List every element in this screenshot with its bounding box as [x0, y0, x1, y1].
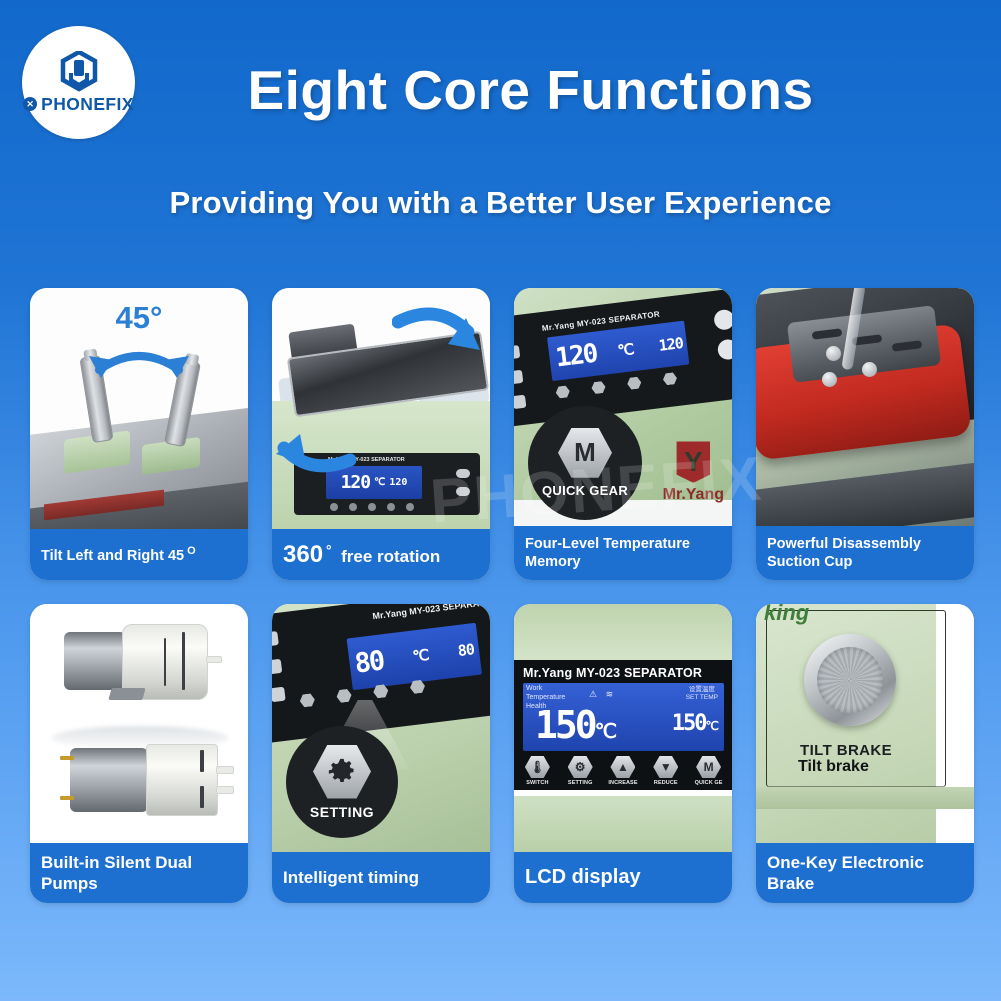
control-panel: Mr.Yang MY-023 SEPARATOR Work Temperatur… — [514, 660, 732, 790]
page-subtitle: Providing You with a Better User Experie… — [0, 185, 1001, 221]
panel-button-increase[interactable]: ▲ INCREASE — [602, 756, 645, 786]
rotation-arrow-top-icon — [392, 306, 484, 371]
button-caption: INCREASE — [602, 780, 645, 786]
lcd-status-icons: ⚠ ≋ — [589, 689, 616, 700]
card-label-suction-cup: Powerful Disassembly Suction Cup — [756, 526, 974, 580]
arrow-up-icon: ▲ — [610, 756, 635, 778]
card-media-temperature-memory: Mr.Yang Mr.Yang MY-023 SEPARATOR 120 ℃ 1… — [514, 288, 732, 526]
brake-caption-lower: Tilt brake — [798, 758, 869, 776]
lcd-unit: ℃ — [374, 477, 385, 488]
button-caption: QUICK GE — [687, 780, 730, 786]
button-caption: SETTING — [559, 780, 602, 786]
label-text: Tilt Left and Right 45 — [41, 547, 184, 563]
panel-button-setting[interactable]: ⚙ SETTING — [559, 756, 602, 786]
panel-title: Mr.Yang MY-023 SEPARATOR — [372, 604, 490, 621]
lcd-main-value: 120 — [554, 339, 598, 374]
panel-button-row: 🌡 SWITCH ⚙ SETTING ▲ INCREASE ▼ REDUCE — [514, 756, 732, 788]
degree-symbol: O — [187, 545, 196, 557]
lcd-main-unit: ℃ — [595, 719, 614, 743]
lcd-main-number: 150 — [535, 703, 595, 747]
feature-card-lcd-display[interactable]: Mr.Yang MY-023 SEPARATOR Work Temperatur… — [514, 604, 732, 903]
feature-card-free-rotation[interactable]: Mr.Yang MY-023 SEPARATOR 120 ℃ 120 — [272, 288, 490, 580]
lcd-set-value: 120 — [658, 334, 684, 355]
button-caption: SWITCH — [516, 780, 559, 786]
panel-button-quick-gear[interactable]: M QUICK GE — [687, 756, 730, 786]
mr-yang-name: Mr.Yang — [663, 486, 724, 504]
panel-button-reduce[interactable]: ▼ REDUCE — [644, 756, 687, 786]
lcd-main-value: 80 — [353, 645, 385, 679]
panel-title: Mr.Yang MY-023 SEPARATOR — [523, 666, 702, 680]
rotation-degree-symbol: ° — [326, 542, 332, 558]
card-media-lcd-display: Mr.Yang MY-023 SEPARATOR Work Temperatur… — [514, 604, 732, 852]
lcd-label-right: 设置温度 SET TEMP — [686, 686, 718, 703]
card-label-dual-pumps: Built-in Silent Dual Pumps — [30, 843, 248, 904]
lcd-unit: ℃ — [617, 340, 635, 360]
card-label-temperature-memory: Four-Level Temperature Memory — [514, 526, 732, 580]
lcd-unit: ℃ — [412, 646, 430, 666]
arrow-down-icon: ▼ — [653, 756, 678, 778]
feature-card-electronic-brake[interactable]: king TILT BRAKE Tilt brake One-Key Elect… — [756, 604, 974, 903]
card-media-electronic-brake: king TILT BRAKE Tilt brake — [756, 604, 974, 843]
rotation-arrow-bottom-icon — [276, 422, 356, 481]
card-label-tilt-45: Tilt Left and Right 45O — [30, 529, 248, 580]
gear-icon: ⚙ — [568, 756, 593, 778]
mr-yang-brand: Mr.Yang — [663, 439, 724, 504]
card-media-free-rotation: Mr.Yang MY-023 SEPARATOR 120 ℃ 120 — [272, 288, 490, 529]
button-caption: REDUCE — [644, 780, 687, 786]
mr-yang-logo-icon — [671, 439, 715, 485]
lcd-label-right-cn: 设置温度 — [689, 686, 715, 693]
setting-callout: SETTING — [286, 726, 398, 838]
card-media-suction-cup — [756, 288, 974, 526]
card-media-tilt-45: 45° — [30, 288, 248, 529]
panel-button-switch[interactable]: 🌡 SWITCH — [516, 756, 559, 786]
angle-value-label: 45° — [116, 300, 163, 336]
quick-gear-callout: M QUICK GEAR — [528, 406, 642, 520]
lcd-set-value: 80 — [457, 640, 475, 660]
lcd-screen: Work Temperature Health ⚠ ≋ 设置温度 SET TEM… — [523, 683, 724, 751]
feature-card-tilt-45[interactable]: 45° Tilt Left and Right 45O — [30, 288, 248, 580]
lcd-set-value: 120 — [389, 477, 407, 488]
lcd-main-value: 150℃ — [535, 703, 614, 747]
thermometer-icon: 🌡 — [525, 756, 550, 778]
card-media-intelligent-timing: Mr.Yang MY-023 SEPARATOR 80 ℃ 80 — [272, 604, 490, 852]
feature-card-dual-pumps[interactable]: Built-in Silent Dual Pumps — [30, 604, 248, 903]
card-label-free-rotation: 360° free rotation — [272, 529, 490, 580]
lcd-set-value: 150℃ — [672, 711, 717, 736]
rotation-label-rest: free rotation — [341, 547, 440, 566]
feature-card-intelligent-timing[interactable]: Mr.Yang MY-023 SEPARATOR 80 ℃ 80 — [272, 604, 490, 903]
brake-caption-upper: TILT BRAKE — [800, 742, 892, 759]
card-label-intelligent-timing: Intelligent timing — [272, 852, 490, 903]
lcd-set-unit: ℃ — [706, 719, 717, 733]
quick-gear-button-icon: M — [558, 428, 612, 478]
machine-top-word: king — [764, 604, 809, 626]
card-media-dual-pumps — [30, 604, 248, 843]
feature-grid: 45° Tilt Left and Right 45O Mr.Yang MY-0… — [30, 288, 976, 903]
lcd-set-number: 150 — [672, 711, 706, 736]
feature-card-suction-cup[interactable]: Powerful Disassembly Suction Cup — [756, 288, 974, 580]
rotation-number: 360 — [283, 541, 323, 568]
feature-card-temperature-memory[interactable]: Mr.Yang Mr.Yang MY-023 SEPARATOR 120 ℃ 1… — [514, 288, 732, 580]
lcd-label-right-en: SET TEMP — [686, 694, 718, 701]
double-arrow-arc-icon — [83, 340, 195, 389]
gear-icon — [313, 745, 371, 799]
page-title: Eight Core Functions — [0, 58, 1001, 122]
memory-m-icon: M — [696, 756, 721, 778]
setting-caption: SETTING — [310, 804, 374, 820]
metal-push-button-icon[interactable] — [804, 634, 896, 726]
card-label-electronic-brake: One-Key Electronic Brake — [756, 843, 974, 904]
quick-gear-caption: QUICK GEAR — [542, 483, 628, 498]
card-label-lcd-display: LCD display — [514, 852, 732, 903]
